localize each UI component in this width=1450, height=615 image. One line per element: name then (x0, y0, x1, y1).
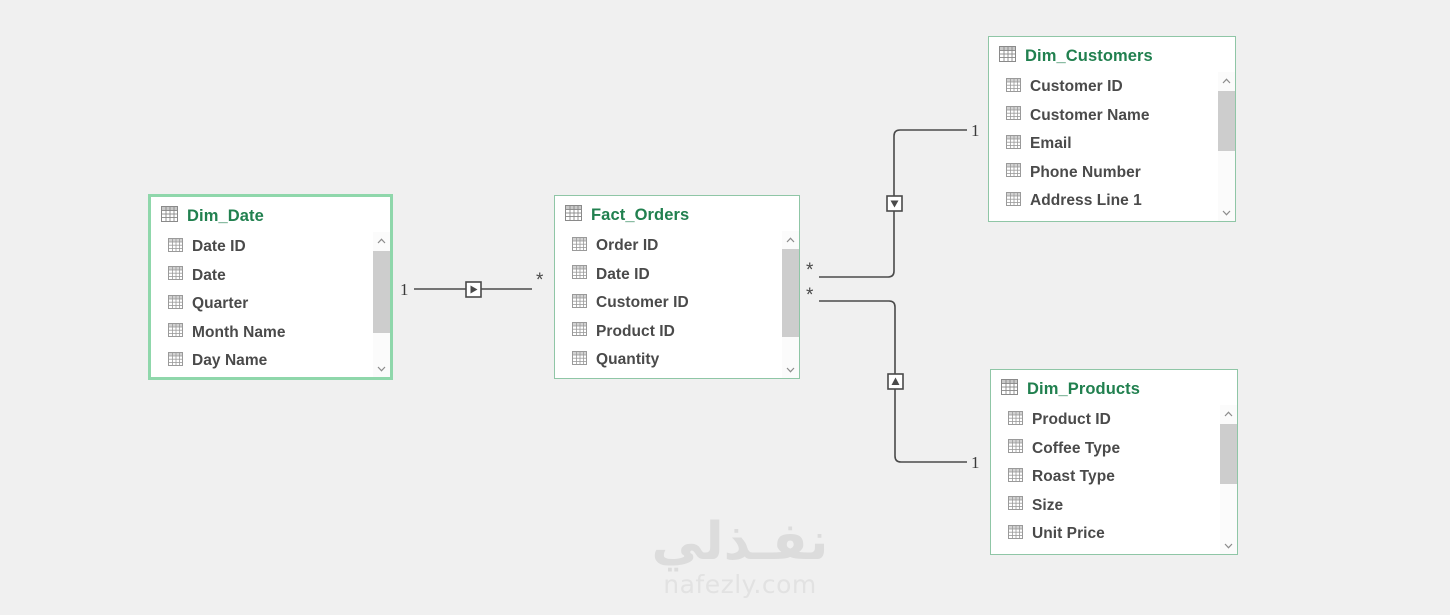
scroll-down-button[interactable] (782, 361, 799, 378)
scrollbar-thumb[interactable] (1220, 424, 1237, 484)
column-icon (1008, 411, 1023, 430)
field-label: Order ID (596, 237, 658, 255)
arrow-down-marker (887, 196, 902, 211)
table-card-dim-date[interactable]: Dim_Date (148, 194, 393, 380)
field-row[interactable]: Day Name (168, 347, 390, 376)
field-list-dim-products: Product ID (991, 405, 1237, 554)
table-title: Dim_Date (187, 207, 264, 226)
field-row[interactable]: Order ID (572, 232, 799, 261)
field-label: Email (1030, 135, 1072, 153)
vertical-scrollbar[interactable] (782, 231, 799, 378)
field-row[interactable]: Quantity (572, 346, 799, 375)
column-icon (1008, 525, 1023, 544)
field-list-dim-customers: Customer ID (989, 72, 1235, 221)
scroll-up-button[interactable] (1218, 72, 1235, 89)
field-label: Date (192, 267, 226, 285)
table-icon (1001, 379, 1018, 400)
field-row[interactable]: Product ID (1008, 406, 1237, 435)
table-body: Order ID (555, 231, 799, 378)
field-label: Product ID (1032, 411, 1111, 429)
field-list-fact-orders: Order ID (555, 231, 799, 378)
column-icon (168, 323, 183, 342)
table-header-fact-orders[interactable]: Fact_Orders (555, 196, 799, 231)
field-row[interactable]: Date ID (572, 261, 799, 290)
vertical-scrollbar[interactable] (1220, 405, 1237, 554)
watermark-arabic: نفـذلي (652, 516, 829, 568)
column-icon (1006, 78, 1021, 97)
table-icon (161, 206, 178, 227)
column-icon (1006, 192, 1021, 211)
field-row[interactable]: Date (168, 262, 390, 291)
column-icon (572, 322, 587, 341)
column-icon (168, 352, 183, 371)
column-icon (572, 265, 587, 284)
field-label: Customer Name (1030, 107, 1150, 125)
field-row[interactable]: Unit Price (1008, 520, 1237, 549)
table-title: Dim_Products (1027, 380, 1140, 399)
scroll-up-button[interactable] (782, 231, 799, 248)
arrow-up-marker (888, 374, 903, 389)
column-icon (1008, 439, 1023, 458)
field-label: Roast Type (1032, 468, 1115, 486)
table-title: Fact_Orders (591, 206, 689, 225)
cardinality-one-customers: 1 (971, 122, 980, 139)
field-label: Address Line 1 (1030, 192, 1142, 210)
scroll-up-button[interactable] (373, 232, 390, 249)
cardinality-many-orders-date: * (536, 271, 543, 290)
scroll-down-button[interactable] (373, 360, 390, 377)
cardinality-one-products: 1 (971, 454, 980, 471)
table-header-dim-date[interactable]: Dim_Date (151, 197, 390, 232)
arrow-right-marker (466, 282, 481, 297)
field-row[interactable]: Phone Number (1006, 159, 1235, 188)
field-label: Unit Price (1032, 525, 1105, 543)
column-icon (168, 295, 183, 314)
vertical-scrollbar[interactable] (373, 232, 390, 377)
scrollbar-thumb[interactable] (373, 251, 390, 333)
field-label: Month Name (192, 324, 286, 342)
table-title: Dim_Customers (1025, 47, 1153, 66)
field-row[interactable]: Customer Name (1006, 102, 1235, 131)
field-row[interactable]: Customer ID (1006, 73, 1235, 102)
field-label: Coffee Type (1032, 440, 1120, 458)
column-icon (572, 237, 587, 256)
column-icon (572, 351, 587, 370)
vertical-scrollbar[interactable] (1218, 72, 1235, 221)
field-row[interactable]: Address Line 1 (1006, 187, 1235, 216)
field-label: Quantity (596, 351, 659, 369)
field-label: Customer ID (596, 294, 689, 312)
column-icon (1008, 496, 1023, 515)
relationship-line-products-orders (819, 301, 967, 462)
table-icon (999, 46, 1016, 67)
column-icon (1006, 106, 1021, 125)
field-label: Product ID (596, 323, 675, 341)
column-icon (1006, 135, 1021, 154)
scrollbar-track[interactable] (782, 248, 799, 361)
table-header-dim-customers[interactable]: Dim_Customers (989, 37, 1235, 72)
table-body: Customer ID (989, 72, 1235, 221)
field-row[interactable]: Email (1006, 130, 1235, 159)
scrollbar-track[interactable] (1220, 422, 1237, 537)
relationship-line-customers-orders (819, 130, 967, 277)
scroll-down-button[interactable] (1220, 537, 1237, 554)
scroll-up-button[interactable] (1220, 405, 1237, 422)
cardinality-many-orders-products: * (806, 286, 813, 305)
field-row[interactable]: Product ID (572, 318, 799, 347)
scrollbar-thumb[interactable] (1218, 91, 1235, 151)
field-row[interactable]: Size (1008, 492, 1237, 521)
field-row[interactable]: Roast Type (1008, 463, 1237, 492)
table-icon (565, 205, 582, 226)
column-icon (1008, 468, 1023, 487)
field-row[interactable]: Date ID (168, 233, 390, 262)
watermark-latin: nafezly.com (663, 570, 817, 600)
field-label: Day Name (192, 352, 267, 370)
table-body: Product ID (991, 405, 1237, 554)
cardinality-one-date: 1 (400, 281, 409, 298)
column-icon (572, 294, 587, 313)
scroll-down-button[interactable] (1218, 204, 1235, 221)
field-label: Customer ID (1030, 78, 1123, 96)
table-header-dim-products[interactable]: Dim_Products (991, 370, 1237, 405)
table-card-dim-products[interactable]: Dim_Products (990, 369, 1238, 555)
scrollbar-track[interactable] (1218, 89, 1235, 204)
model-diagram-canvas[interactable]: Fact_Orders --> Dim_Customers --> Dim_Pr… (0, 0, 1450, 615)
field-label: Date ID (596, 266, 650, 284)
table-body: Date ID (151, 232, 390, 377)
field-label: Size (1032, 497, 1063, 515)
column-icon (168, 266, 183, 285)
field-row[interactable]: Month Name (168, 319, 390, 348)
field-label: Quarter (192, 295, 248, 313)
scrollbar-track[interactable] (373, 249, 390, 360)
column-icon (168, 238, 183, 257)
field-row[interactable]: Customer ID (572, 289, 799, 318)
watermark: نفـذلي nafezly.com (620, 505, 860, 610)
table-card-dim-customers[interactable]: Dim_Customers (988, 36, 1236, 222)
table-card-fact-orders[interactable]: Fact_Orders (554, 195, 800, 379)
field-label: Date ID (192, 238, 246, 256)
column-icon (1006, 163, 1021, 182)
field-row[interactable]: Coffee Type (1008, 435, 1237, 464)
field-label: Phone Number (1030, 164, 1141, 182)
field-row[interactable]: Quarter (168, 290, 390, 319)
cardinality-many-orders-customers: * (806, 261, 813, 280)
scrollbar-thumb[interactable] (782, 249, 799, 337)
field-list-dim-date: Date ID (151, 232, 390, 377)
